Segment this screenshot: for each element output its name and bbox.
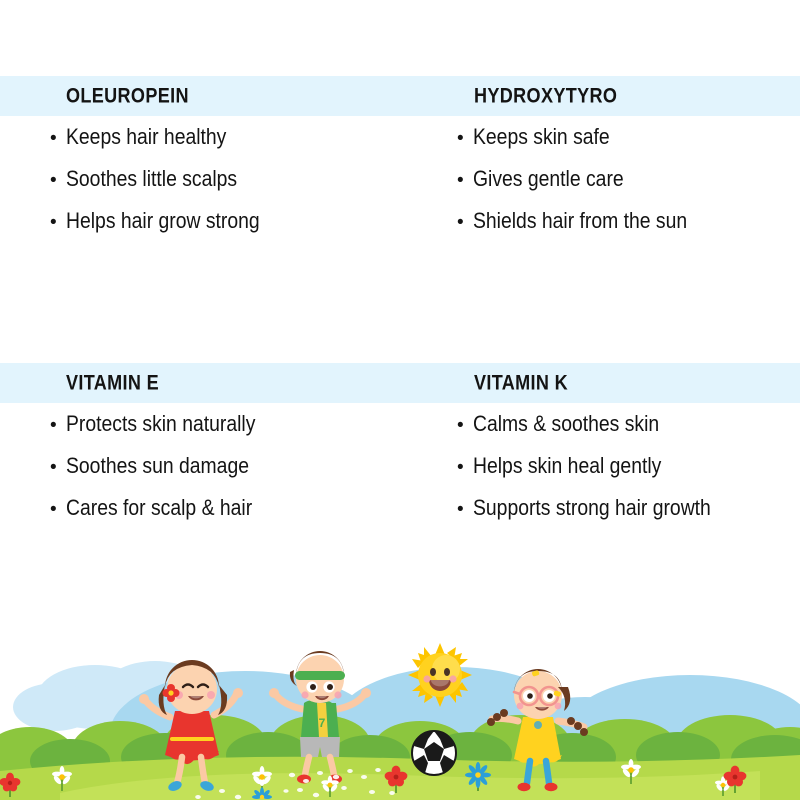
bullet-label: Soothes little scalps: [66, 158, 404, 200]
list-item: • Soothes sun damage: [50, 445, 450, 487]
list-item: • Cares for scalp & hair: [50, 487, 450, 529]
bullet-list-hydroxytyro: • Keeps skin safe • Gives gentle care • …: [457, 116, 800, 242]
benefit-row-1: OLEUROPEIN HYDROXYTYRO • Keeps hair heal…: [0, 76, 800, 266]
panel-title-vitamin-k: VITAMIN K: [474, 373, 568, 394]
headband: [295, 671, 345, 680]
bullet-label: Helps hair grow strong: [66, 200, 404, 242]
bullet-dot-icon: •: [457, 405, 473, 447]
bullet-dot-icon: •: [50, 118, 66, 160]
panel-title-oleuropein: OLEUROPEIN: [66, 86, 189, 107]
bullet-dot-icon: •: [50, 160, 66, 202]
bullet-dot-icon: •: [457, 447, 473, 489]
bullet-list-vitamin-k: • Calms & soothes skin • Helps skin heal…: [457, 403, 800, 529]
bullets-area-row-2: • Protects skin naturally • Soothes sun …: [0, 403, 800, 553]
bullet-dot-icon: •: [50, 405, 66, 447]
bullet-label: Gives gentle care: [473, 158, 761, 200]
list-item: • Keeps skin safe: [457, 116, 800, 158]
benefit-row-2: VITAMIN E VITAMIN K • Protects skin natu…: [0, 363, 800, 553]
bullet-dot-icon: •: [457, 489, 473, 531]
bullet-dot-icon: •: [50, 202, 66, 244]
list-item: • Helps hair grow strong: [50, 200, 450, 242]
bullet-label: Cares for scalp & hair: [66, 487, 404, 529]
list-item: • Soothes little scalps: [50, 158, 450, 200]
list-item: • Keeps hair healthy: [50, 116, 450, 158]
page-root: OLEUROPEIN HYDROXYTYRO • Keeps hair heal…: [0, 0, 800, 800]
bullet-label: Soothes sun damage: [66, 445, 404, 487]
list-item: • Gives gentle care: [457, 158, 800, 200]
soccer-ball-icon: [412, 731, 456, 775]
bullet-dot-icon: •: [457, 202, 473, 244]
bullet-dot-icon: •: [50, 447, 66, 489]
panel-title-hydroxytyro: HYDROXYTYRO: [474, 86, 617, 107]
panel-title-vitamin-e: VITAMIN E: [66, 373, 159, 394]
header-band-row-1: OLEUROPEIN HYDROXYTYRO: [0, 76, 800, 116]
bullet-label: Helps skin heal gently: [473, 445, 761, 487]
bullet-label: Protects skin naturally: [66, 403, 404, 445]
bullet-list-oleuropein: • Keeps hair healthy • Soothes little sc…: [50, 116, 450, 242]
bullet-label: Shields hair from the sun: [473, 200, 761, 242]
bullet-list-vitamin-e: • Protects skin naturally • Soothes sun …: [50, 403, 450, 529]
meadow-illustration: 7: [0, 625, 800, 800]
bullet-label: Keeps hair healthy: [66, 116, 404, 158]
bullet-dot-icon: •: [457, 118, 473, 160]
header-band-row-2: VITAMIN E VITAMIN K: [0, 363, 800, 403]
bullet-dot-icon: •: [50, 489, 66, 531]
bullet-label: Calms & soothes skin: [473, 403, 761, 445]
list-item: • Shields hair from the sun: [457, 200, 800, 242]
list-item: • Supports strong hair growth: [457, 487, 800, 529]
bullet-label: Supports strong hair growth: [473, 487, 761, 529]
list-item: • Calms & soothes skin: [457, 403, 800, 445]
list-item: • Protects skin naturally: [50, 403, 450, 445]
jersey-number: 7: [319, 716, 326, 730]
list-item: • Helps skin heal gently: [457, 445, 800, 487]
bullets-area-row-1: • Keeps hair healthy • Soothes little sc…: [0, 116, 800, 266]
bullet-label: Keeps skin safe: [473, 116, 761, 158]
bullet-dot-icon: •: [457, 160, 473, 202]
